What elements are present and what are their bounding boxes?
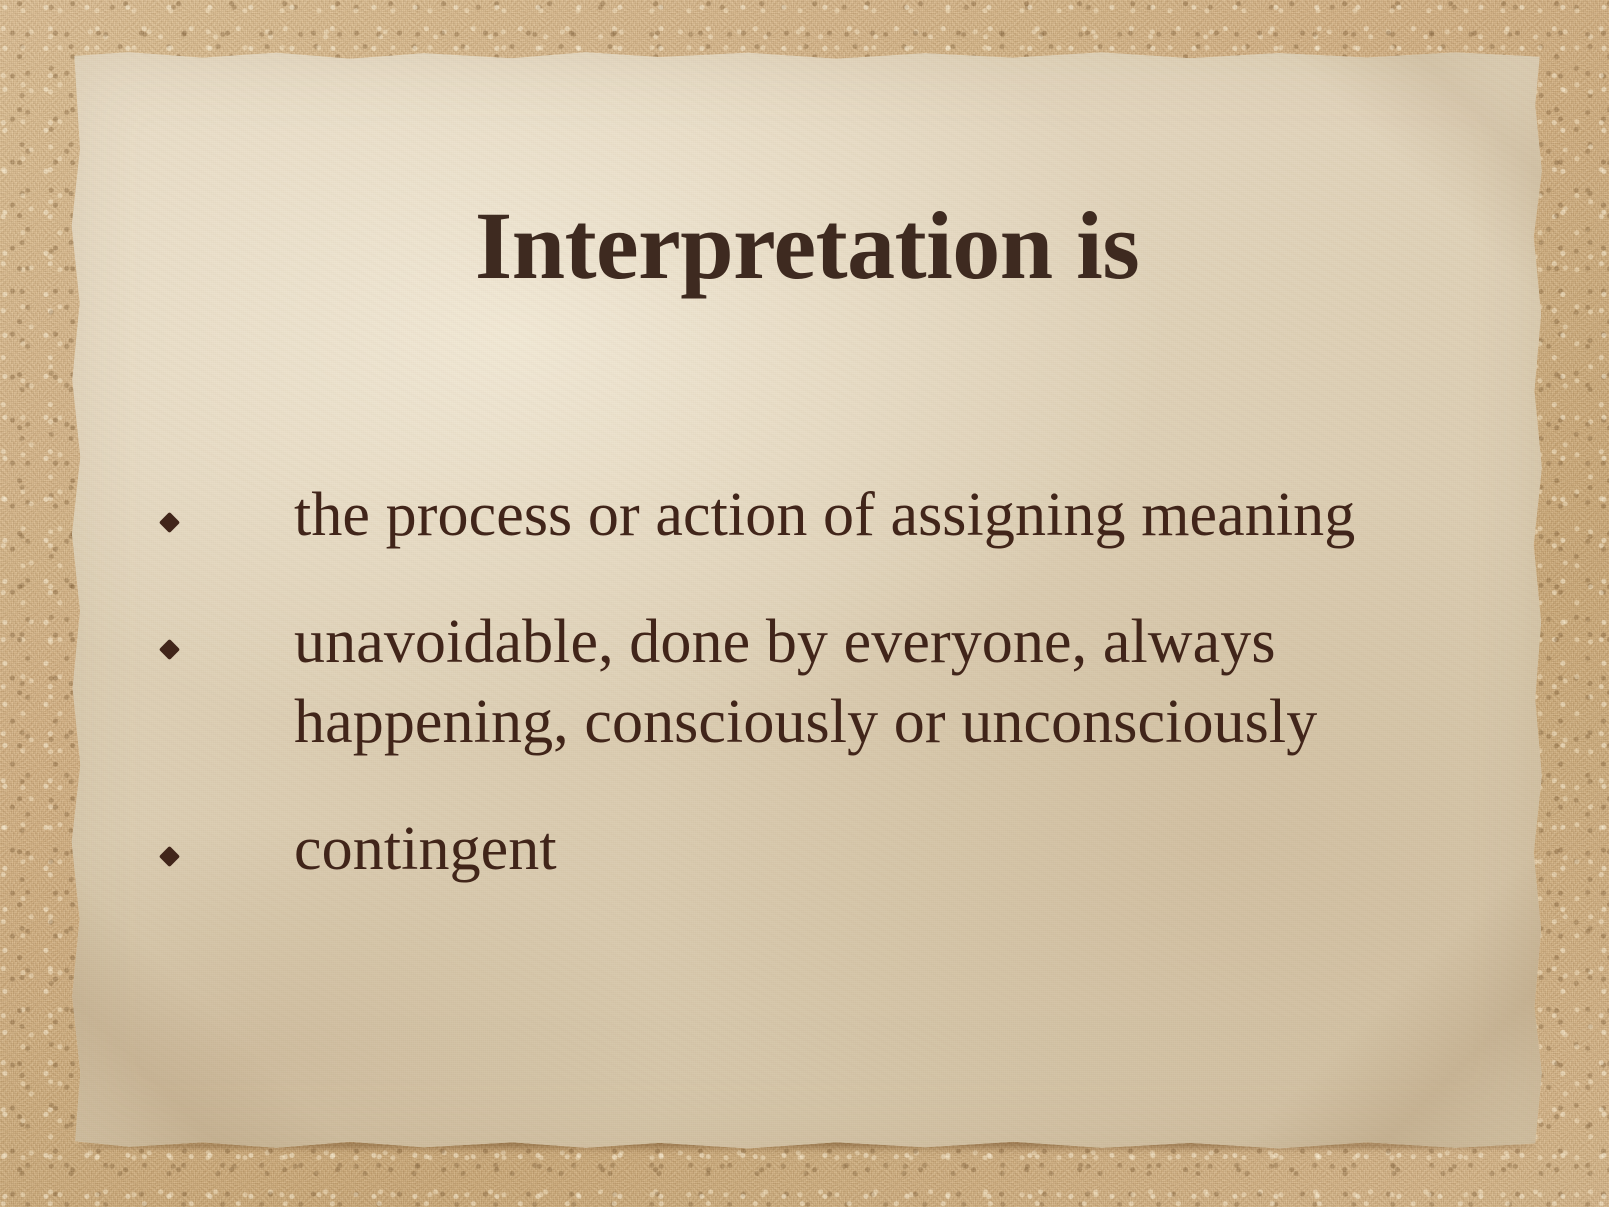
diamond-bullet-icon	[159, 512, 180, 533]
diamond-bullet-icon	[159, 846, 180, 867]
list-item: the process or action of assigning meani…	[146, 475, 1476, 556]
list-item: unavoidable, done by everyone, always ha…	[146, 602, 1476, 763]
slide-content: Interpretation is the process or action …	[70, 50, 1544, 1150]
slide-canvas: Interpretation is the process or action …	[0, 0, 1609, 1207]
list-item: contingent	[146, 809, 1476, 890]
bullet-text: the process or action of assigning meani…	[294, 481, 1355, 549]
page-title: Interpretation is	[70, 194, 1544, 298]
bullet-text: contingent	[294, 815, 557, 883]
bullet-list: the process or action of assigning meani…	[146, 475, 1476, 889]
diamond-bullet-icon	[159, 638, 180, 659]
bullet-text: unavoidable, done by everyone, always ha…	[294, 608, 1317, 757]
